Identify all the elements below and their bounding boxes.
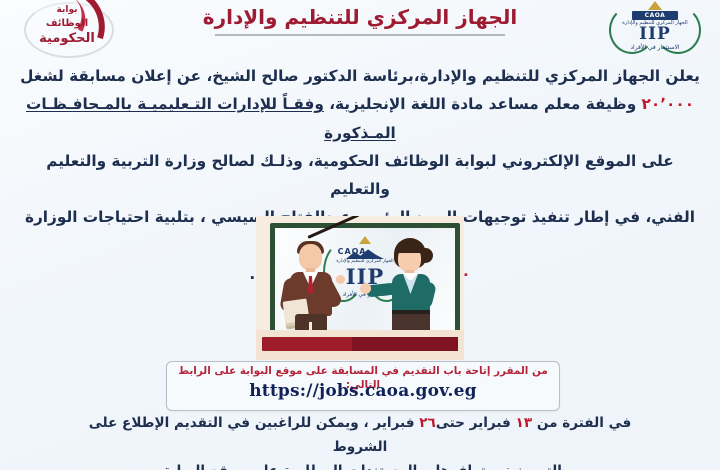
vacancy-word: وظيفة <box>586 95 636 113</box>
announcement-page: بوابة الوظائف الحكومية الجهاز المركزي لل… <box>0 0 720 470</box>
caoa-abbr: CAOA <box>632 11 678 20</box>
end-date: ٢٦ <box>419 415 436 431</box>
period-prefix: في الفترة من <box>537 415 631 431</box>
application-link-box[interactable]: من المقرر إتاحة باب التقديم في المسابقة … <box>166 361 560 411</box>
body-line-3: على الموقع الإلكتروني لبوابة الوظائف الح… <box>16 147 704 204</box>
desk-front-panel-shade <box>352 337 458 351</box>
start-date: ١٣ <box>516 415 533 431</box>
male-right-hand <box>336 275 345 284</box>
iip-motto: الاستثمار في الأفراد <box>600 44 710 51</box>
body-line-1: يعلن الجهاز المركزي للتنظيم والإدارة،برئ… <box>16 62 704 90</box>
iip-text: IIP <box>600 24 710 44</box>
period-mid-2: فبراير ، ويمكن للراغبين في التقديم الإطل… <box>89 415 415 455</box>
classroom-illustration: CAOA الجهاز المركزي للتنظيم والإدارة IIP… <box>256 216 464 360</box>
footer-line-2: التي ينبغي توافرها، والمستندات المطلوبة … <box>78 460 642 470</box>
body-line-2: ٢٠٬٠٠٠ وظيفة معلم مساعد مادة اللغة الإنج… <box>16 90 704 147</box>
female-left-hand <box>360 283 371 294</box>
caoa-iip-logo: CAOA الجهاز المركزي للتنظيم والإدارة IIP… <box>600 0 710 56</box>
male-teacher-figure <box>286 244 346 344</box>
desk-platform <box>256 330 464 360</box>
application-period-note: في الفترة من ١٣ فبراير حتى٢٦ فبراير ، وي… <box>78 412 642 470</box>
body-line-1-text: يعلن الجهاز المركزي للتنظيم والإدارة،برئ… <box>20 67 700 85</box>
page-header: بوابة الوظائف الحكومية الجهاز المركزي لل… <box>0 0 720 56</box>
job-title-text: معلم مساعد مادة اللغة الإنجليزية، <box>329 95 580 113</box>
footer-line-1: في الفترة من ١٣ فبراير حتى٢٦ فبراير ، وي… <box>78 412 642 460</box>
application-url[interactable]: https://jobs.caoa.gov.eg <box>167 381 559 401</box>
vacancy-count: ٢٠٬٠٠٠ <box>642 95 695 113</box>
male-head <box>299 244 322 270</box>
female-fringe <box>396 243 424 253</box>
board-eagle-crest-icon <box>359 236 371 244</box>
title-divider <box>215 34 505 36</box>
period-mid-1: فبراير حتى <box>436 415 511 431</box>
